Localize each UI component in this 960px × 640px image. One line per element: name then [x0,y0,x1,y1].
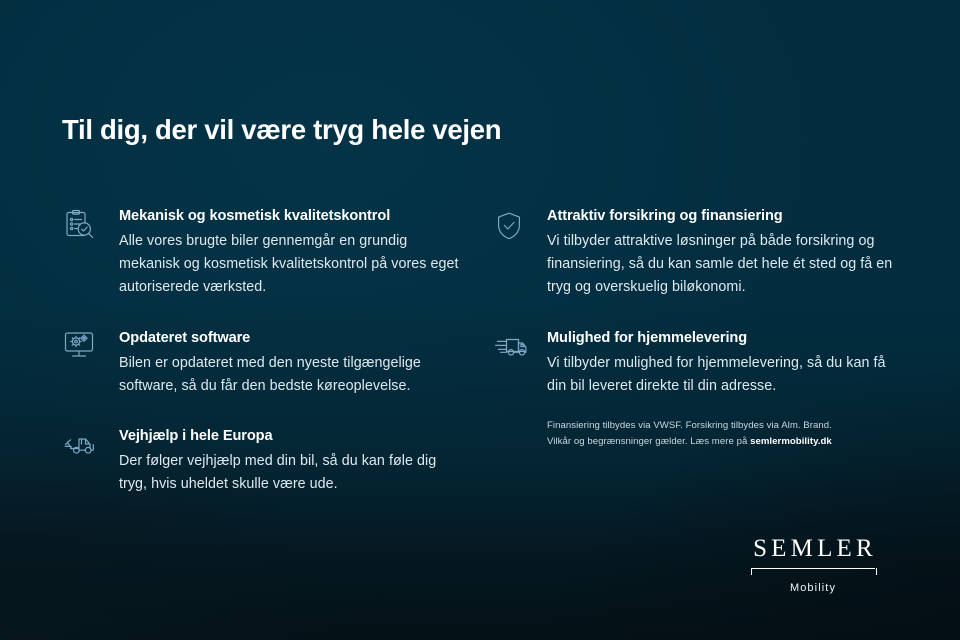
fineprint-disclaimer: Finansiering tilbydes via VWSF. Forsikri… [492,418,902,449]
feature-title: Vejhjælp i hele Europa [119,426,462,447]
fineprint-line-1: Finansiering tilbydes via VWSF. Forsikri… [547,418,902,434]
feature-title: Mekanisk og kosmetisk kvalitetskontrol [119,206,462,227]
fineprint-line-2-text: Vilkår og begrænsninger gælder. Læs mere… [547,436,750,447]
feature-body: Alle vores brugte biler gennemgår en gru… [119,230,462,299]
shield-check-icon [494,210,532,248]
page-title: Til dig, der vil være tryg hele vejen [62,113,501,146]
semler-mobility-logo: SEMLER Mobility [723,536,903,594]
feature-body: Vi tilbyder attraktive løsninger på både… [547,230,902,299]
logo-wordmark: SEMLER [723,536,903,561]
clipboard-magnifier-icon [62,208,100,246]
feature-title: Attraktiv forsikring og finansiering [547,206,902,227]
tow-truck-icon [62,428,100,466]
feature-item: Mekanisk og kosmetisk kvalitetskontrol A… [62,206,462,300]
feature-item: Vejhjælp i hele Europa Der følger vejhjæ… [62,426,462,496]
feature-item: Attraktiv forsikring og finansiering Vi … [492,206,902,300]
semlermobility-link[interactable]: semlermobility.dk [750,436,832,447]
monitor-gears-icon [62,330,100,368]
logo-subtitle: Mobility [723,582,903,594]
feature-body: Der følger vejhjælp med din bil, så du k… [119,450,462,496]
features-column-left: Mekanisk og kosmetisk kvalitetskontrol A… [62,206,462,497]
features-column-right: Attraktiv forsikring og finansiering Vi … [492,206,902,449]
feature-body: Vi tilbyder mulighed for hjemmelevering,… [547,352,902,398]
feature-title: Opdateret software [119,328,462,349]
fineprint-line-2: Vilkår og begrænsninger gælder. Læs mere… [547,434,902,450]
feature-body: Bilen er opdateret med den nyeste tilgæn… [119,352,462,398]
logo-divider-rule [751,568,875,577]
feature-item: Opdateret software Bilen er opdateret me… [62,328,462,398]
slide-root: Til dig, der vil være tryg hele vejen [0,0,960,640]
feature-title: Mulighed for hjemmelevering [547,328,902,349]
delivery-truck-icon [494,332,532,370]
feature-item: Mulighed for hjemmelevering Vi tilbyder … [492,328,902,398]
